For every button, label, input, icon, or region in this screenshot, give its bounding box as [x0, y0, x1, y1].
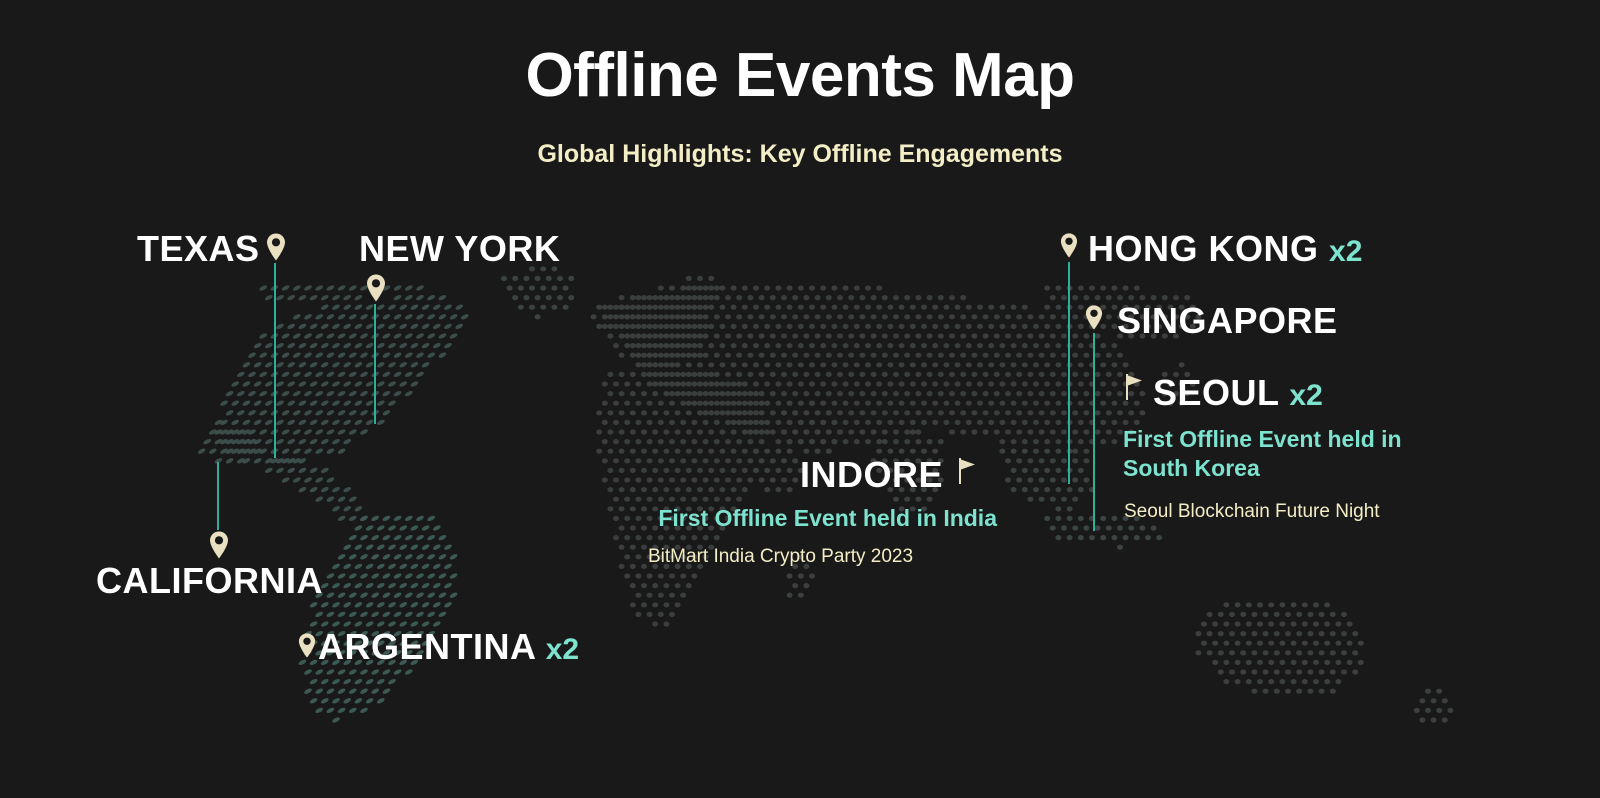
map-pin-icon [1084, 304, 1104, 331]
page-subtitle: Global Highlights: Key Offline Engagemen… [0, 140, 1600, 169]
map-pin-icon [297, 632, 317, 659]
marker-new-york[interactable] [365, 273, 387, 303]
marker-seoul[interactable] [1124, 374, 1144, 400]
event-name-seoul: Seoul Blockchain Future Night [1124, 501, 1380, 523]
connector-line-hong-kong [1068, 262, 1070, 484]
label-argentina[interactable]: ARGENTINA x2 [318, 626, 579, 668]
marker-indore[interactable] [957, 458, 977, 484]
marker-california[interactable] [208, 530, 230, 560]
description-seoul-line2: South Korea [1123, 454, 1483, 483]
city-name-new-york: NEW YORK [359, 228, 560, 269]
map-pin-icon [1059, 232, 1079, 259]
city-name-seoul: SEOUL [1153, 372, 1279, 413]
multiplier-seoul: x2 [1289, 379, 1322, 412]
description-indore: First Offline Event held in India [537, 504, 997, 533]
multiplier-hong-kong: x2 [1329, 235, 1362, 268]
label-hong-kong[interactable]: HONG KONG x2 [1088, 228, 1362, 270]
connector-line-california [217, 462, 219, 530]
label-singapore[interactable]: SINGAPORE [1117, 300, 1338, 342]
flag-icon [1124, 374, 1144, 400]
label-seoul[interactable]: SEOUL x2 [1153, 372, 1323, 414]
city-name-singapore: SINGAPORE [1117, 300, 1338, 341]
city-name-texas: TEXAS [137, 228, 260, 269]
label-indore[interactable]: INDORE [800, 454, 943, 496]
map-pin-icon [208, 530, 230, 560]
map-pin-icon [365, 273, 387, 303]
city-name-california: CALIFORNIA [96, 560, 323, 601]
connector-line-texas [274, 263, 276, 458]
city-name-argentina: ARGENTINA [318, 626, 535, 667]
marker-argentina[interactable] [297, 632, 317, 659]
multiplier-argentina: x2 [546, 633, 579, 666]
connector-line-new-york [374, 304, 376, 424]
event-name-indore: BitMart India Crypto Party 2023 [648, 546, 913, 568]
city-name-indore: INDORE [800, 454, 943, 495]
city-name-hong-kong: HONG KONG [1088, 228, 1319, 269]
page-title: Offline Events Map [0, 40, 1600, 111]
label-new-york[interactable]: NEW YORK [359, 228, 560, 270]
label-texas[interactable]: TEXAS [137, 228, 260, 270]
offline-events-map-slide: Offline Events Map Global Highlights: Ke… [0, 0, 1600, 798]
label-california[interactable]: CALIFORNIA [96, 560, 323, 602]
connector-line-singapore [1093, 333, 1095, 531]
world-map-dotted [0, 0, 1600, 798]
marker-singapore[interactable] [1084, 304, 1104, 331]
map-pin-icon [265, 232, 287, 262]
description-seoul-line1: First Offline Event held in [1123, 425, 1483, 454]
marker-hong-kong[interactable] [1059, 232, 1079, 259]
marker-texas[interactable] [265, 232, 287, 262]
description-seoul: First Offline Event held in South Korea [1123, 425, 1483, 483]
flag-icon [957, 458, 977, 484]
